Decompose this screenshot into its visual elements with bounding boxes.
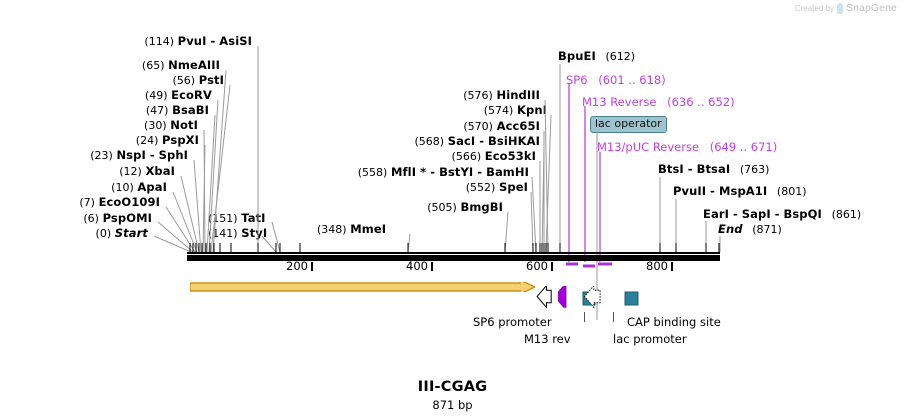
- enzyme-position: (10): [111, 181, 134, 194]
- enzyme-position: (568): [414, 135, 444, 148]
- enzyme-label-saci-bsihkai[interactable]: (568) SacI - BsiHKAI: [290, 135, 540, 148]
- enzyme-label-end[interactable]: End (871): [718, 223, 782, 236]
- orf-arrow[interactable]: [190, 282, 535, 292]
- enzyme-label-bmgbi[interactable]: (505) BmgBI: [290, 201, 503, 214]
- primer-range: (601 .. 618): [598, 73, 666, 87]
- enzyme-name: NmeAIII: [168, 58, 220, 72]
- enzyme-position: (30): [144, 119, 167, 132]
- enzyme-label-start[interactable]: (0) Start: [0, 227, 148, 240]
- feature-caption-m13-rev[interactable]: M13 rev: [524, 332, 571, 346]
- enzyme-name: AsiSI: [219, 34, 252, 48]
- enzyme-name: BamHI: [486, 165, 529, 179]
- enzyme-position: (24): [136, 134, 159, 147]
- enzyme-name: End: [718, 222, 743, 236]
- enzyme-name: PspOMI: [103, 211, 152, 225]
- enzyme-position: (505): [427, 201, 457, 214]
- primer-name: SP6: [566, 73, 588, 87]
- enzyme-position: (871): [752, 223, 782, 236]
- ruler-tick-200: [311, 262, 313, 271]
- enzyme-position: (558): [358, 166, 388, 179]
- enzyme-position: (49): [145, 89, 168, 102]
- enzyme-position: (12): [119, 165, 142, 178]
- enzyme-label-pvuii-mspa1i[interactable]: PvuII - MspA1I (801): [673, 185, 807, 198]
- enzyme-position: (861): [832, 208, 862, 221]
- primer-label-sp6[interactable]: SP6 (601 .. 618): [566, 73, 666, 87]
- ruler-tick-800: [671, 262, 673, 271]
- enzyme-name: PvuII: [673, 184, 706, 198]
- enzyme-position: (56): [173, 74, 196, 87]
- enzyme-position: (47): [146, 104, 169, 117]
- enzyme-label-tati[interactable]: (151) TatI: [208, 212, 266, 225]
- enzyme-label-nmeaiii[interactable]: (65) NmeAIII: [0, 59, 220, 72]
- enzyme-name: BstYI: [439, 165, 473, 179]
- enzyme-name: NotI: [170, 118, 198, 132]
- enzyme-name: TatI: [241, 211, 265, 225]
- enzyme-name: MmeI: [350, 222, 386, 236]
- enzyme-position: (151): [208, 212, 238, 225]
- m13-rev-glyph: [558, 286, 566, 307]
- sequence-length-label: 871 bp: [0, 398, 905, 412]
- enzyme-name: NspI: [116, 148, 145, 162]
- lac-promoter-stem: [613, 312, 614, 322]
- enzyme-name: BtsI: [658, 162, 684, 176]
- enzyme-label-pspomi[interactable]: (6) PspOMI: [0, 212, 152, 225]
- ruler-tick-label-800: 800: [646, 259, 668, 273]
- primer-name: M13 Reverse: [582, 95, 656, 109]
- enzyme-name: PspXI: [162, 133, 199, 147]
- enzyme-name: SpeI: [499, 180, 528, 194]
- ruler-tick-600: [551, 262, 553, 271]
- primer-label-m13-puc-reverse[interactable]: M13/pUC Reverse (649 .. 671): [597, 140, 777, 154]
- enzyme-label-hindiii[interactable]: (576) HindIII: [300, 89, 540, 102]
- enzyme-label-btsi-btsai[interactable]: BtsI - BtsaI (763): [658, 163, 769, 176]
- watermark-prefix: Created by: [795, 4, 834, 13]
- enzyme-position: (23): [90, 149, 113, 162]
- enzyme-name: Eco53kI: [485, 149, 536, 163]
- enzyme-name: StyI: [241, 226, 267, 240]
- enzyme-label-noti[interactable]: (30) NotI: [0, 119, 198, 132]
- enzyme-label-eco53ki[interactable]: (566) Eco53kI: [300, 150, 536, 163]
- cap-binding-site-glyph: [625, 292, 638, 305]
- primer-label-m13-reverse[interactable]: M13 Reverse (636 .. 652): [582, 95, 735, 109]
- ruler-bar[interactable]: [187, 255, 720, 261]
- enzyme-name: BmgBI: [460, 200, 503, 214]
- enzyme-name: EarI: [703, 207, 729, 221]
- ruler-tick-label-400: 400: [406, 259, 428, 273]
- enzyme-position: (65): [142, 59, 165, 72]
- enzyme-name: KpnI: [517, 103, 547, 117]
- enzyme-position: (552): [466, 181, 496, 194]
- page-title: III-CGAG: [0, 379, 905, 395]
- enzyme-label-pspxi[interactable]: (24) PspXI: [0, 134, 199, 147]
- enzyme-position: (348): [317, 223, 347, 236]
- enzyme-label-mmei[interactable]: (348) MmeI: [317, 223, 386, 236]
- enzyme-name: EcoO109I: [99, 195, 160, 209]
- lac-operator-badge[interactable]: lac operator: [590, 116, 667, 133]
- enzyme-label-styi[interactable]: (141) StyI: [208, 227, 267, 240]
- enzyme-label-eari-sapi-bspqi[interactable]: EarI - SapI - BspQI (861): [703, 208, 861, 221]
- enzyme-position: (141): [208, 227, 238, 240]
- enzyme-label-ecoo109i[interactable]: (7) EcoO109I: [0, 196, 160, 209]
- enzyme-position: (6): [83, 212, 99, 225]
- snapgene-logo-icon: [837, 3, 843, 14]
- enzyme-position: (114): [144, 35, 174, 48]
- enzyme-name: PstI: [199, 73, 224, 87]
- ruler-tick-label-600: 600: [526, 259, 548, 273]
- sp6-promoter-glyph: [537, 286, 551, 307]
- enzyme-position: (7): [79, 196, 95, 209]
- enzyme-name: XbaI: [145, 164, 175, 178]
- enzyme-name: ApaI: [137, 180, 167, 194]
- lac-operator-label: lac operator: [595, 117, 662, 130]
- ruler-baseline-top: [187, 252, 720, 254]
- enzyme-label-pvui-asisi[interactable]: (114) PvuI - AsiSI: [0, 35, 252, 48]
- feature-caption-cap-binding-site[interactable]: CAP binding site: [627, 315, 721, 329]
- enzyme-label-spei[interactable]: (552) SpeI: [300, 181, 528, 194]
- ruler-tick-400: [431, 262, 433, 271]
- enzyme-name: MspA1I: [719, 184, 767, 198]
- enzyme-name: BsiHKAI: [488, 134, 540, 148]
- m13-rev-stem: [584, 312, 585, 322]
- enzyme-name: HindIII: [496, 88, 540, 102]
- feature-track[interactable]: [536, 286, 652, 314]
- enzyme-position: (0): [96, 227, 112, 240]
- enzyme-name: Acc65I: [497, 119, 540, 133]
- primer-range: (649 .. 671): [710, 140, 778, 154]
- enzyme-label-ecorv[interactable]: (49) EcoRV: [0, 89, 212, 102]
- enzyme-position: (570): [463, 120, 493, 133]
- enzyme-label-kpni[interactable]: (574) KpnI: [300, 104, 547, 117]
- enzyme-label-bpuei[interactable]: BpuEI (612): [558, 50, 635, 63]
- enzyme-label-mfli-bstyi-bamhi[interactable]: (558) MflI * - BstYI - BamHI: [280, 166, 529, 179]
- enzyme-label-apai[interactable]: (10) ApaI: [0, 181, 167, 194]
- enzyme-name: BsaBI: [172, 103, 209, 117]
- watermark-brand: SnapGene: [846, 2, 897, 14]
- enzyme-position: (801): [777, 185, 807, 198]
- enzyme-position: (763): [740, 163, 770, 176]
- ruler-tick-label-200: 200: [286, 259, 308, 273]
- enzyme-name: PvuI: [178, 34, 207, 48]
- enzyme-name: SapI: [742, 207, 771, 221]
- enzyme-name: BpuEI: [558, 49, 596, 63]
- primer-range: (636 .. 652): [667, 95, 735, 109]
- enzyme-label-bsabi[interactable]: (47) BsaBI: [0, 104, 209, 117]
- snapgene-watermark: Created by SnapGene: [795, 2, 897, 14]
- feature-caption-sp6-promoter[interactable]: SP6 promoter: [473, 315, 552, 329]
- enzyme-position: (574): [484, 104, 514, 117]
- enzyme-position: (612): [605, 50, 635, 63]
- primer-name: M13/pUC Reverse: [597, 140, 699, 154]
- enzyme-label-xbai[interactable]: (12) XbaI: [0, 165, 175, 178]
- enzyme-name: MflI *: [391, 165, 426, 179]
- enzyme-label-nspi-sphi[interactable]: (23) NspI - SphI: [0, 149, 188, 162]
- enzyme-name: Start: [115, 226, 148, 240]
- feature-caption-lac-promoter[interactable]: lac promoter: [613, 332, 687, 346]
- enzyme-name: BspQI: [784, 207, 822, 221]
- enzyme-label-psti[interactable]: (56) PstI: [0, 74, 224, 87]
- enzyme-name: SacI: [448, 134, 476, 148]
- enzyme-position: (566): [452, 150, 482, 163]
- enzyme-name: SphI: [159, 148, 188, 162]
- enzyme-name: EcoRV: [171, 88, 212, 102]
- enzyme-position: (576): [463, 89, 493, 102]
- enzyme-label-acc65i[interactable]: (570) Acc65I: [300, 120, 540, 133]
- enzyme-name: BtsaI: [697, 162, 731, 176]
